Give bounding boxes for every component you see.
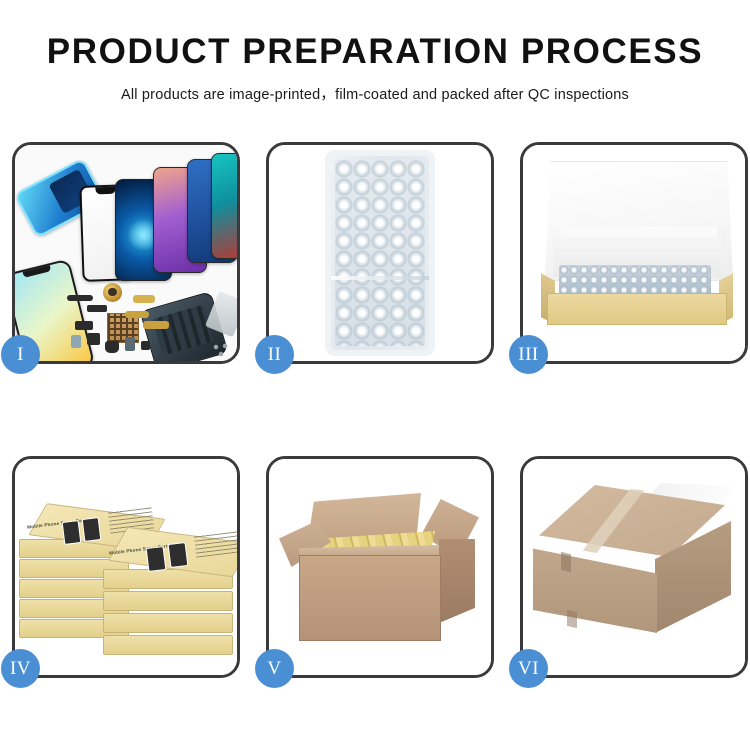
connector-1-icon [75,321,93,330]
flex-cable-1-icon [133,295,155,303]
box-stack-icon: Mobile Phone Spare Parts Mobile Phone Sp… [17,477,237,667]
carton-side-panel [439,539,475,623]
stacked-box-edge [103,591,233,611]
connector-2-icon [71,335,81,348]
step-badge-4: IV [1,649,40,688]
step-panel-2: II [266,142,494,364]
step-2-image [269,145,491,361]
process-steps-grid: I II III [12,142,738,678]
step-panel-4: Mobile Phone Spare Parts Mobile Phone Sp… [12,456,240,678]
box-front-panel [547,293,727,325]
step-badge-1: I [1,335,40,374]
bubble-wrap-pouch-icon [331,156,429,350]
connector-3-icon [87,333,100,345]
step-panel-5: V [266,456,494,678]
connector-5-icon [125,337,135,351]
box-phone-image-2 [82,517,102,542]
step-3-image [523,145,745,361]
connector-6-icon [141,341,150,350]
box-phone-image-1 [62,520,82,545]
header: PRODUCT PREPARATION PROCESS All products… [0,0,750,104]
flex-cable-3-icon [143,321,169,329]
phone-screen-teal-icon [211,153,237,259]
step-badge-5: V [255,649,294,688]
step-panel-1: I [12,142,240,364]
box-phone-image-4 [168,542,189,568]
page-subtitle: All products are image-printed，film-coat… [0,83,750,104]
stacked-box-edge [103,635,233,655]
step-1-image [15,145,237,361]
step-badge-3: III [509,335,548,374]
connector-4-icon [105,341,119,353]
carton-seam-upper [561,552,571,572]
carton-front-panel [299,555,441,641]
step-4-image: Mobile Phone Spare Parts Mobile Phone Sp… [15,459,237,675]
step-5-image [269,459,491,675]
step-badge-6: VI [509,649,548,688]
step-badge-2: II [255,335,294,374]
step-panel-3: III [520,142,748,364]
page-title: PRODUCT PREPARATION PROCESS [0,34,750,69]
part-bar-icon [67,295,93,301]
connector-7-icon [87,305,107,312]
step-panel-6: VI [520,456,748,678]
box-phone-image-3 [146,546,167,572]
carton-seam-lower [567,610,577,628]
flex-cable-2-icon [125,311,149,318]
speaker-coil-icon [103,283,122,302]
pouch-seam [331,276,429,280]
screws-icon [213,343,235,357]
bubble-pattern [335,160,425,346]
stacked-box-edge [103,613,233,633]
product-preparation-infographic: PRODUCT PREPARATION PROCESS All products… [0,0,750,750]
step-6-image [523,459,745,675]
box-bubble-contents [559,265,711,295]
